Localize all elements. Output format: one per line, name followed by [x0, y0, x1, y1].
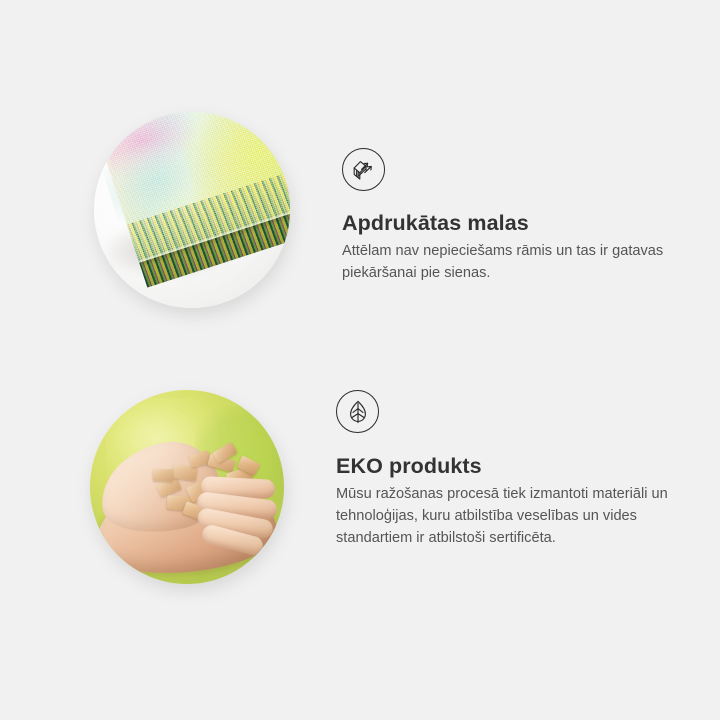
canvas-printed-edges-icon	[342, 148, 385, 191]
media-eco	[0, 378, 284, 584]
fingers-group	[190, 472, 284, 561]
leaf-icon	[336, 390, 379, 433]
feature-description-eco: Mūsu ražošanas procesā tiek izmantoti ma…	[336, 483, 676, 549]
canvas-print-corner-photo	[94, 112, 290, 308]
copy-printed-edges: Apdrukātas malas Attēlam nav nepieciešam…	[290, 100, 720, 284]
feature-block-eco: EKO produkts Mūsu ražošanas procesā tiek…	[0, 378, 720, 584]
media-printed-edges	[0, 100, 290, 308]
feature-title-printed-edges: Apdrukātas malas	[342, 211, 690, 236]
feature-block-printed-edges: Apdrukātas malas Attēlam nav nepieciešam…	[0, 100, 720, 308]
feature-description-printed-edges: Attēlam nav nepieciešams rāmis un tas ir…	[342, 240, 687, 284]
infographic-page: Apdrukātas malas Attēlam nav nepieciešam…	[0, 0, 720, 720]
feature-title-eco: EKO produkts	[336, 454, 690, 479]
wood-chip	[153, 469, 173, 482]
hands-holding-wood-chips-photo	[90, 390, 284, 584]
copy-eco: EKO produkts Mūsu ražošanas procesā tiek…	[284, 378, 720, 549]
